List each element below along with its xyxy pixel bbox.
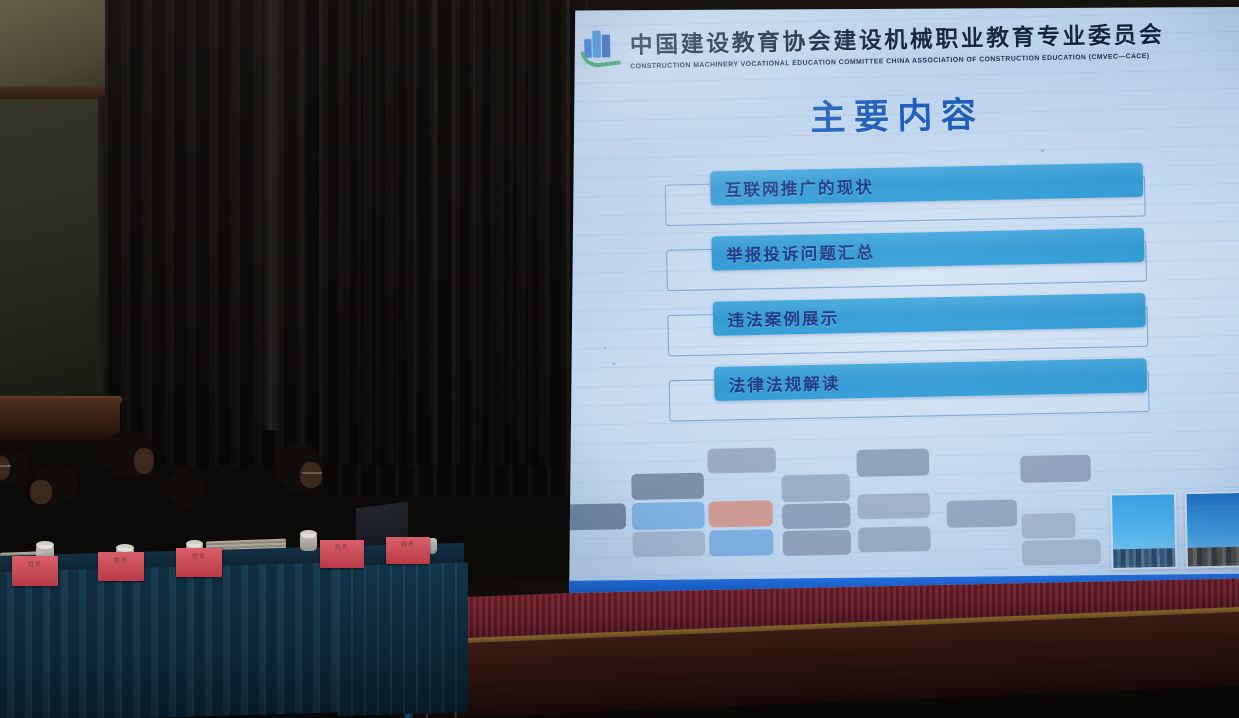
panelist-4-head [168,470,204,506]
photo-thumbnail-city-left [1110,492,1178,570]
name-placard: 姓名 [386,537,430,564]
decorative-block [707,447,776,473]
decorative-block [857,493,930,519]
decorative-block [946,500,1017,528]
name-placard: 姓名 [12,556,58,586]
decorative-block [782,530,851,556]
content-row[interactable]: 违法案例展示 [663,290,1202,366]
name-placard: 姓名 [176,548,222,577]
dust-speck [604,346,606,348]
slide-header: 中国建设教育协会建设机械职业教育专业委员会 CONSTRUCTION MACHI… [579,7,1222,82]
content-row[interactable]: 举报投诉问题汇总 [662,225,1201,301]
dust-speck [1041,149,1044,152]
content-row-label: 举报投诉问题汇总 [726,238,876,266]
dust-speck [612,363,615,365]
decorative-block [632,502,705,530]
decorative-block [708,500,773,527]
panelist-2-face [30,480,52,504]
panelist-5-face [300,462,322,488]
conference-room-photo: 姓名 姓名 姓名 姓名 姓名 中国建设教育协会建设机械职业教育专业委员会 CON… [0,0,1239,718]
name-placard-text: 姓名 [180,553,219,573]
projection-screen[interactable]: 中国建设教育协会建设机械职业教育专业委员会 CONSTRUCTION MACHI… [561,7,1239,593]
name-placard: 姓名 [320,540,364,568]
panelist-5-glasses [302,472,322,474]
name-placard-text: 姓名 [16,561,55,581]
building-bars-logo-icon [579,27,623,71]
decorative-block [631,473,704,500]
tea-cup-2-lid [116,544,134,552]
panel-table-skirt-right [338,562,468,716]
decorative-block [709,529,774,556]
name-placard-text: 姓名 [102,557,141,577]
wall-panel-lower [0,99,98,399]
tea-cup-1-lid [36,541,54,549]
decorative-block [782,503,851,529]
decorative-block [1022,539,1101,565]
slide-title-text: 主要内容 [810,94,985,139]
decorative-block [1020,455,1091,483]
content-row-label: 违法案例展示 [727,304,839,331]
content-row[interactable]: 法律法规解读 [664,355,1203,431]
decorative-block [781,474,850,502]
name-placard-text: 姓名 [324,544,361,563]
slide-title: 主要内容 [561,81,1239,146]
panelist-3-face [134,448,154,474]
content-list: 互联网推广的现状 举报投诉问题汇总 违法案例展示 [660,159,1203,431]
name-placard: 姓名 [98,552,144,581]
tea-cup-3-lid [186,540,203,548]
decorative-block [632,531,705,557]
content-row-label: 互联网推广的现状 [725,173,875,201]
decorative-block [856,449,929,477]
decorative-block [858,526,931,552]
content-row[interactable]: 互联网推广的现状 [660,159,1199,235]
decorative-block [1021,513,1075,539]
curtain-highlight-fold [262,0,280,430]
slide-surface: 中国建设教育协会建设机械职业教育专业委员会 CONSTRUCTION MACHI… [561,7,1239,593]
tea-cup-4-lid [300,530,317,538]
content-row-label: 法律法规解读 [729,369,841,396]
photo-thumbnail-city-right [1184,491,1239,569]
wood-cabinet [0,398,120,440]
organization-names: 中国建设教育协会建设机械职业教育专业委员会 CONSTRUCTION MACHI… [629,16,1164,70]
wall-panel-upper [0,0,122,88]
name-placard-text: 姓名 [390,541,427,559]
panelist-1-glasses [0,465,11,467]
decorative-block [561,503,626,530]
stage-curtain-right [300,0,590,496]
